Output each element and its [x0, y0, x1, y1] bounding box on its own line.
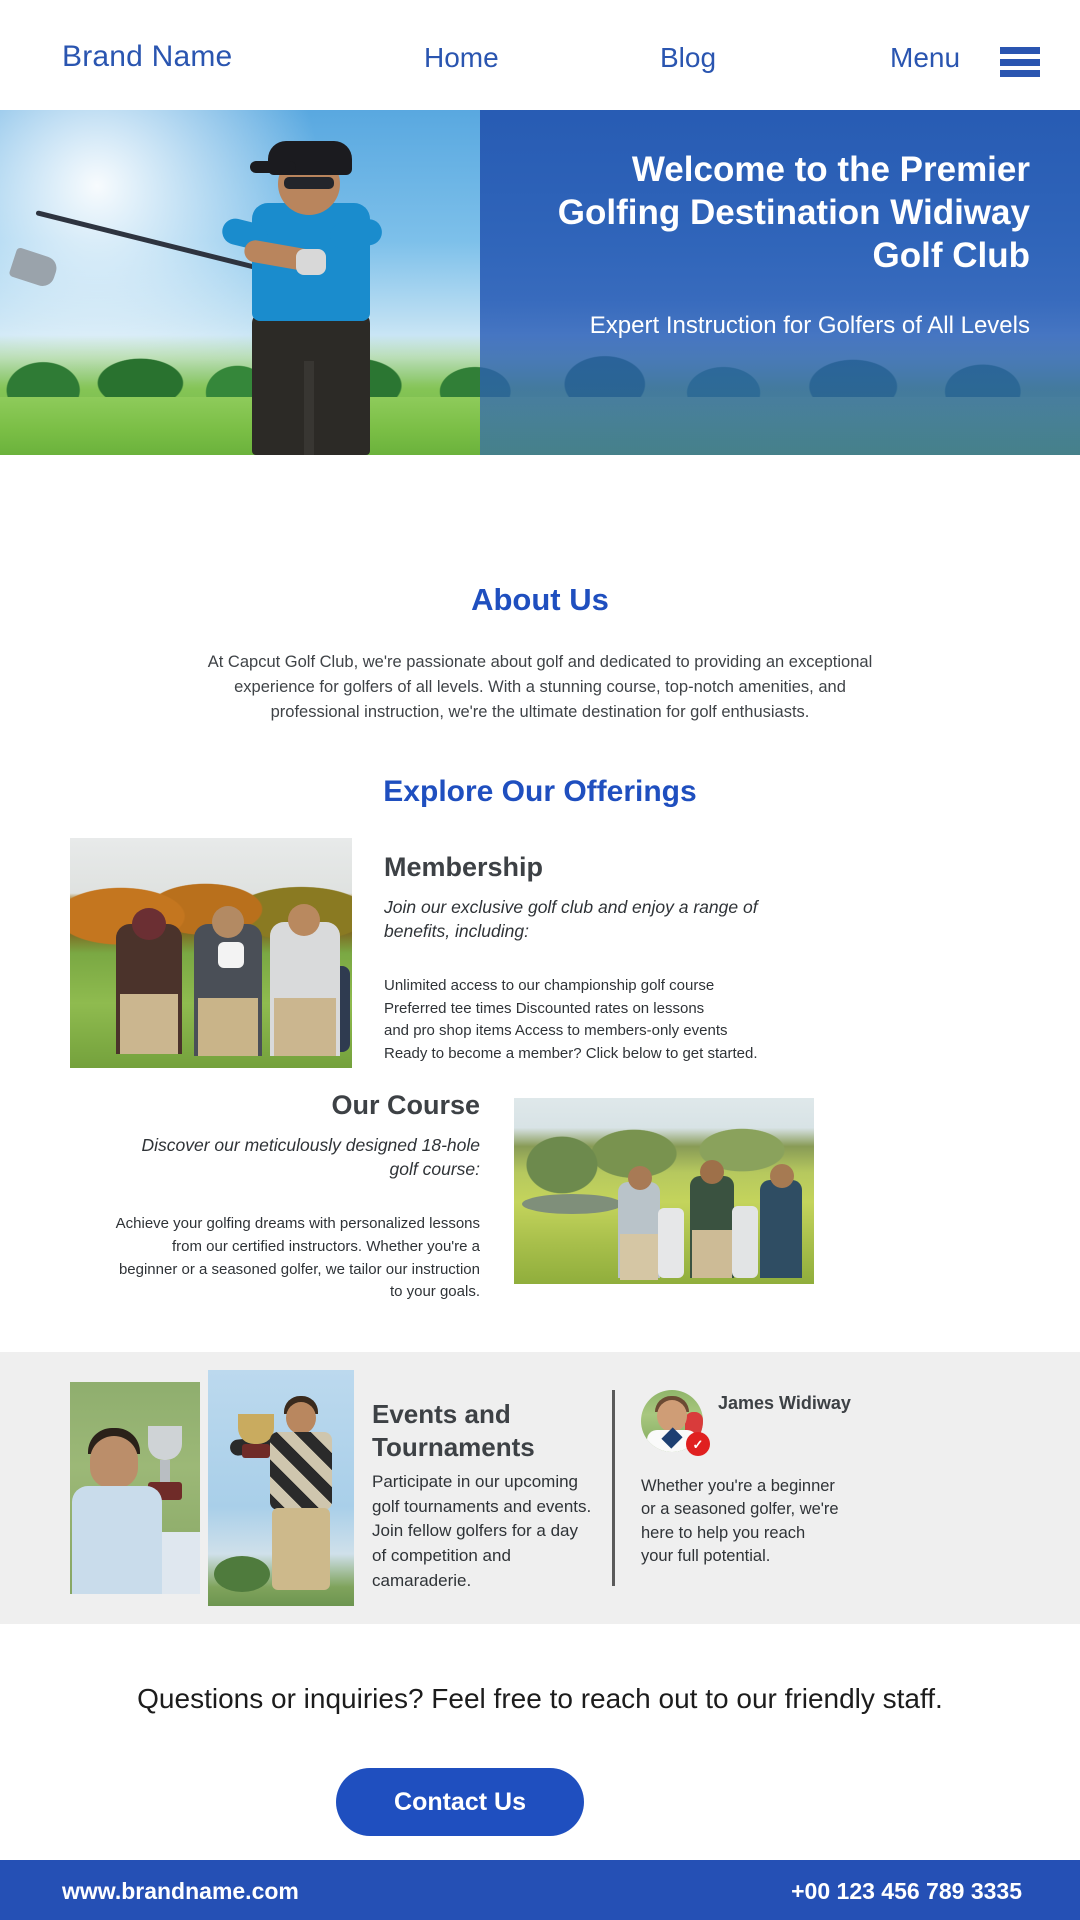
our-course-intro: Discover our meticulously designed 18-ho… — [120, 1133, 480, 1181]
footer-website[interactable]: www.brandname.com — [62, 1878, 299, 1905]
about-us-body: At Capcut Golf Club, we're passionate ab… — [190, 650, 890, 725]
our-course-image — [514, 1098, 814, 1284]
verified-check-icon: ✓ — [686, 1432, 710, 1456]
footer-phone[interactable]: +00 123 456 789 3335 — [791, 1878, 1022, 1905]
testimonial-divider — [612, 1390, 615, 1586]
events-image-trophy-golfer — [70, 1382, 200, 1594]
membership-heading: Membership — [384, 852, 543, 883]
contact-us-button[interactable]: Contact Us — [336, 1768, 584, 1836]
brand-name[interactable]: Brand Name — [62, 40, 232, 74]
landing-page: Brand Name Home Blog Menu Welcome to the… — [0, 0, 1080, 1920]
hero-golfer-image — [200, 125, 430, 455]
about-us-title: About Us — [0, 582, 1080, 618]
hero-title: Welcome to the Premier Golfing Destinati… — [510, 148, 1030, 277]
nav-link-menu[interactable]: Menu — [890, 42, 960, 74]
membership-image — [70, 838, 352, 1068]
navbar: Brand Name Home Blog Menu — [0, 0, 1080, 110]
our-course-heading: Our Course — [120, 1090, 480, 1121]
membership-benefits: Unlimited access to our championship gol… — [384, 975, 784, 1065]
events-body: Participate in our upcoming golf tournam… — [372, 1470, 592, 1593]
our-course-body: Achieve your golfing dreams with persona… — [110, 1213, 480, 1304]
testimonial-name: James Widiway — [718, 1392, 868, 1415]
events-heading: Events and Tournaments — [372, 1398, 602, 1463]
events-image-champion — [208, 1370, 354, 1606]
nav-link-home[interactable]: Home — [424, 42, 499, 74]
contact-prompt: Questions or inquiries? Feel free to rea… — [0, 1680, 1080, 1718]
hero-subtitle: Expert Instruction for Golfers of All Le… — [570, 310, 1030, 342]
testimonial-quote: Whether you're a beginner or a seasoned … — [641, 1475, 841, 1569]
hamburger-icon[interactable] — [1000, 47, 1040, 77]
hamburger-bar — [1000, 47, 1040, 54]
footer: www.brandname.com +00 123 456 789 3335 — [0, 1860, 1080, 1920]
explore-offerings-title: Explore Our Offerings — [0, 775, 1080, 809]
hamburger-bar — [1000, 70, 1040, 77]
membership-intro: Join our exclusive golf club and enjoy a… — [384, 895, 784, 943]
hamburger-bar — [1000, 59, 1040, 66]
nav-link-blog[interactable]: Blog — [660, 42, 716, 74]
hero-section: Welcome to the Premier Golfing Destinati… — [0, 110, 1080, 455]
